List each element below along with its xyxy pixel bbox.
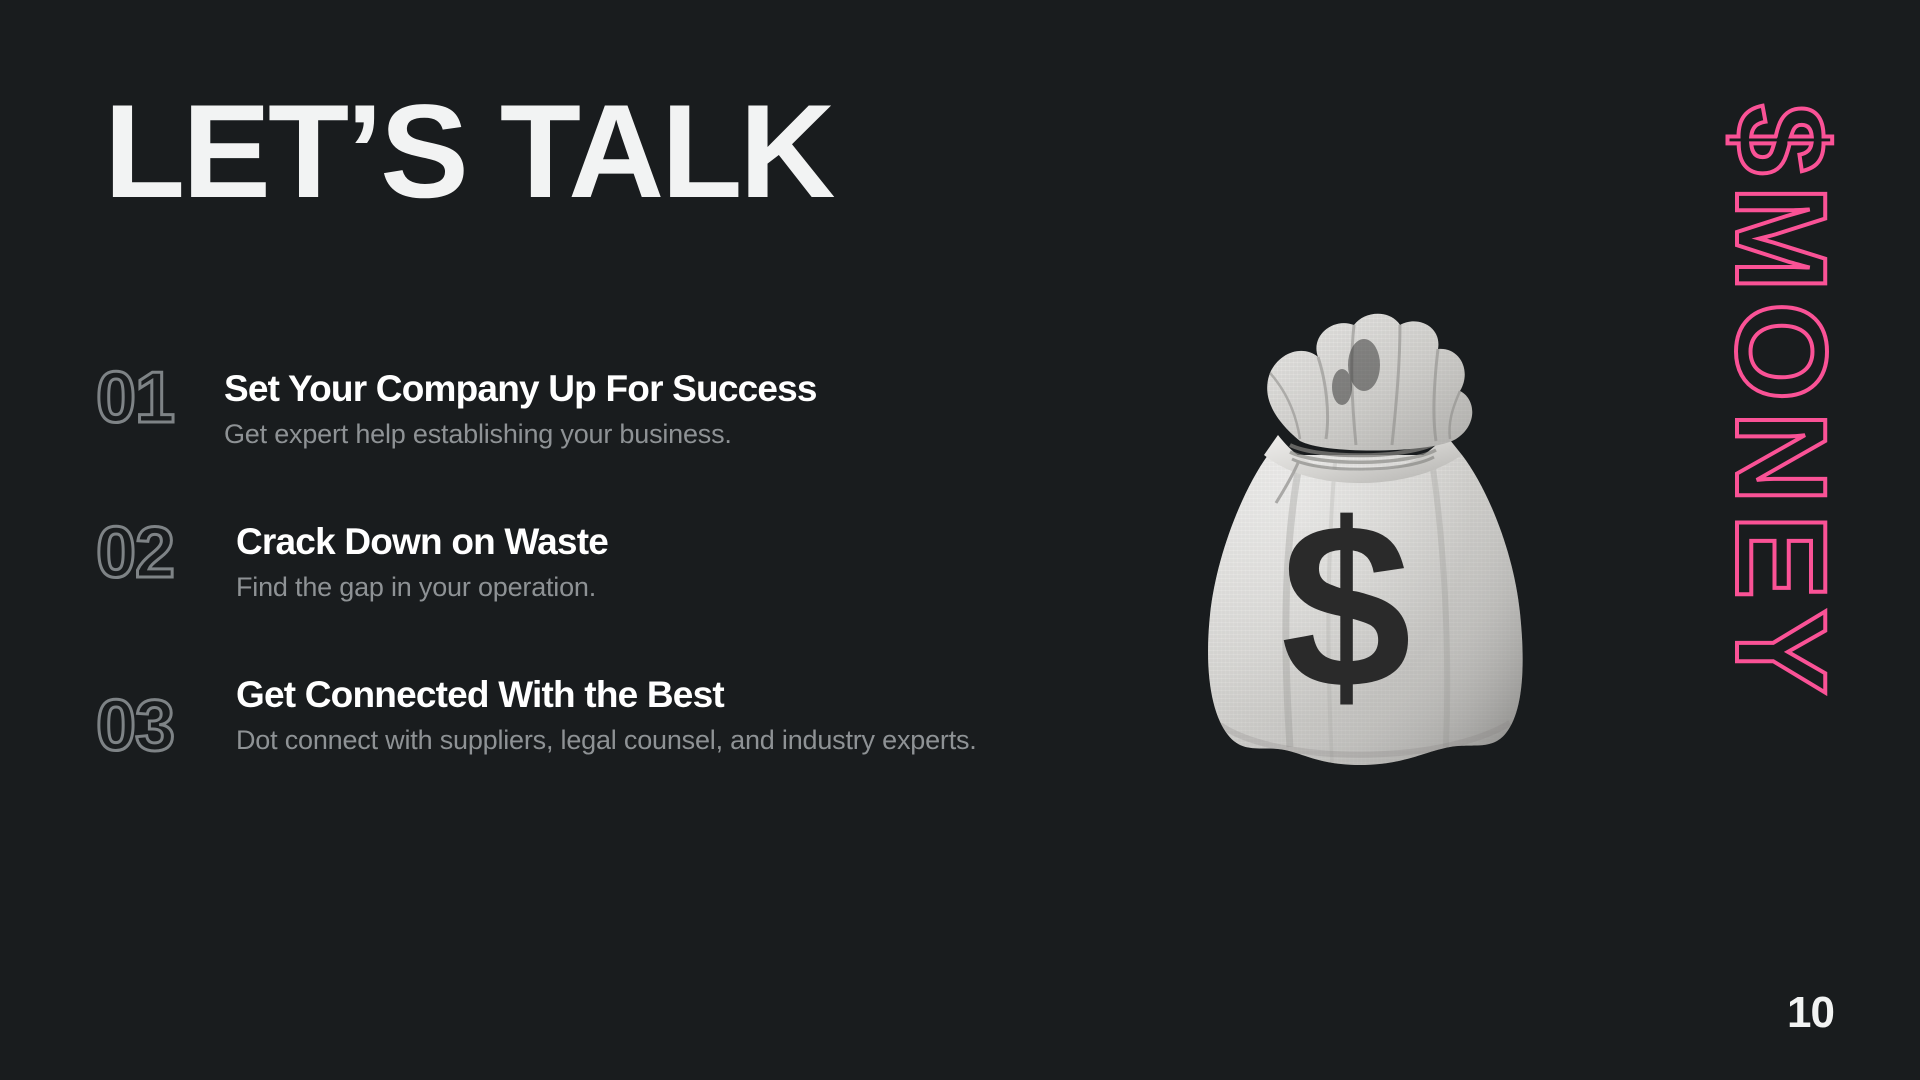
vertical-money-decoration: $MONEY xyxy=(1620,0,1920,1080)
list-item-title: Crack Down on Waste xyxy=(236,521,608,564)
list-item-number: 02 xyxy=(96,519,224,587)
list-item-description: Find the gap in your operation. xyxy=(236,570,608,605)
list-item: 03 Get Connected With the Best Dot conne… xyxy=(96,668,1076,760)
list-item: 02 Crack Down on Waste Find the gap in y… xyxy=(96,515,1076,604)
list-item-content: Crack Down on Waste Find the gap in your… xyxy=(236,515,608,604)
list-item-content: Set Your Company Up For Success Get expe… xyxy=(224,362,817,451)
page-title: LET’S TALK xyxy=(104,86,833,219)
list-item-description: Get expert help establishing your busine… xyxy=(224,417,817,452)
money-bag-dollar-glyph: $ xyxy=(1281,474,1412,737)
list-item-title: Get Connected With the Best xyxy=(236,674,977,717)
numbered-list: 01 Set Your Company Up For Success Get e… xyxy=(96,362,1076,761)
slide-canvas: LET’S TALK 01 Set Your Company Up For Su… xyxy=(0,0,1920,1080)
list-item-description: Dot connect with suppliers, legal counse… xyxy=(236,723,977,758)
vertical-money-text: $MONEY xyxy=(1716,104,1844,705)
money-bag-image: $ xyxy=(1150,295,1570,835)
page-number: 10 xyxy=(1787,988,1834,1038)
list-item-number: 03 xyxy=(96,692,224,760)
list-item-content: Get Connected With the Best Dot connect … xyxy=(236,668,977,757)
list-item-title: Set Your Company Up For Success xyxy=(224,368,817,411)
list-item: 01 Set Your Company Up For Success Get e… xyxy=(96,362,1076,451)
list-item-number: 01 xyxy=(96,364,224,432)
